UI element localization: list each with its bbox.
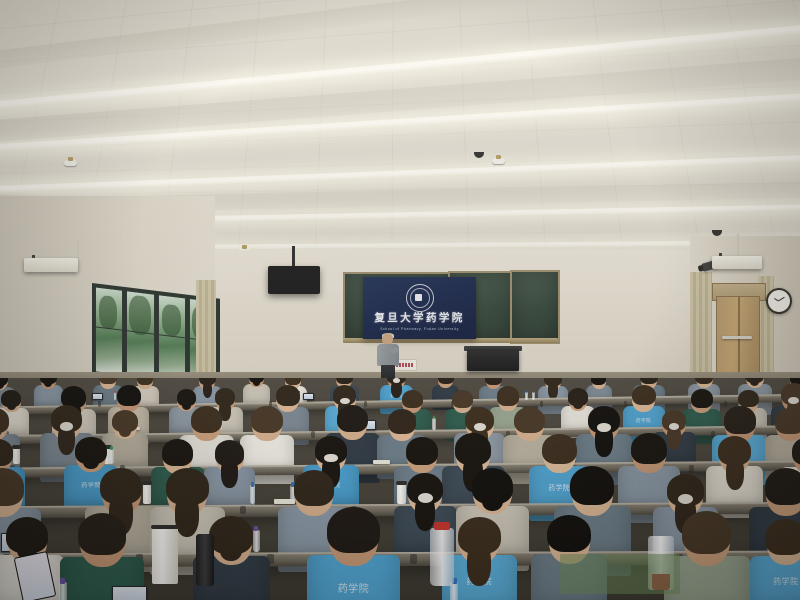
water-bottle	[109, 449, 114, 464]
audience-member-hair	[724, 406, 756, 433]
audience-member-hair	[406, 437, 438, 465]
water-bottle-foreground	[430, 528, 454, 586]
hair-tie	[60, 422, 73, 430]
audience-member-hair	[191, 406, 222, 433]
audience-member-hair	[336, 378, 353, 384]
audience-member-hair	[765, 468, 800, 505]
window-curtain-left	[196, 280, 216, 380]
audience-member-hair	[738, 390, 759, 408]
projector-pole	[737, 234, 739, 258]
bottle-cap	[251, 482, 254, 487]
audience-member-hair	[497, 386, 519, 405]
audience-member-hair	[285, 378, 301, 385]
smoke-detector-icon	[64, 160, 77, 166]
audience-member-hair	[452, 390, 473, 408]
audience-member-hair	[117, 385, 141, 406]
bottle-cap	[433, 416, 435, 419]
banner-chinese-text: 复旦大学药学院	[363, 313, 476, 324]
coffee-tumbler	[143, 484, 151, 504]
seat-divider	[364, 401, 367, 407]
coffee-tumbler	[397, 484, 405, 504]
notebook	[373, 460, 390, 464]
bottle-cap	[60, 578, 65, 584]
ceiling-projector-right	[712, 256, 762, 269]
window-pane	[95, 286, 123, 375]
polo-back-print: 药学院	[307, 580, 399, 595]
bottle-cap	[526, 391, 528, 393]
audience-member-bun	[182, 401, 192, 410]
lecture-hall-photo: 创新药研发是一场高风险、高投入、高回报的工作 数据来源：行业研究报告 · 制图说…	[0, 0, 800, 600]
laptop	[92, 393, 103, 400]
laptop	[303, 393, 314, 400]
audience-member-hair	[402, 390, 423, 408]
seat-divider	[98, 401, 101, 407]
ceiling-projector-left	[24, 258, 78, 272]
audience-member-bun	[119, 425, 132, 437]
window-pane	[158, 294, 186, 383]
audience-member-bun	[482, 492, 502, 511]
audience-member-hair	[294, 470, 335, 505]
laptop	[112, 586, 147, 600]
ceiling-mounted-display	[268, 266, 320, 294]
presenter	[377, 333, 399, 381]
audience-member-hair	[775, 408, 800, 433]
fudan-seal-icon	[406, 284, 434, 312]
seat-divider	[240, 506, 246, 515]
audience-member-ponytail	[548, 381, 558, 398]
audience-member-hair	[765, 519, 800, 555]
seat-divider	[689, 465, 694, 472]
audience-member-hair	[327, 507, 380, 553]
water-bottle	[525, 392, 528, 400]
laptop-screen	[304, 394, 313, 399]
audience-member-bun	[83, 455, 98, 470]
audience-member-hair	[542, 434, 577, 464]
polo-back-print: 药学院	[750, 576, 800, 587]
bottle-cap	[533, 391, 535, 393]
seat-divider	[540, 401, 543, 407]
audience-member-hair	[632, 385, 656, 406]
tv-mount-pole	[292, 246, 295, 268]
lectern	[467, 349, 519, 371]
smoke-detector-icon	[492, 158, 505, 164]
audience-member-hair	[570, 466, 614, 504]
polo-back-print: 药学院	[623, 418, 665, 424]
ceiling-tile-seam	[792, 0, 800, 258]
banner-english-text: School of Pharmacy, Fudan University	[363, 327, 476, 331]
bottle-cap	[110, 446, 113, 450]
audience-member-hair	[388, 409, 416, 433]
wall-clock	[766, 288, 792, 314]
seat-divider	[724, 401, 727, 407]
audience-member-ponytail	[203, 381, 213, 398]
seat-divider	[311, 431, 315, 437]
hair-tie	[324, 454, 337, 463]
water-bottle	[114, 392, 117, 400]
laptop-screen	[93, 394, 102, 399]
audience-member-ponytail	[467, 543, 491, 586]
bottle-cap	[254, 526, 258, 532]
ceiling-tile-seam	[391, 0, 393, 258]
audience-member-hair	[514, 407, 545, 434]
audience-member-ponytail	[221, 458, 238, 488]
hair-tie	[418, 493, 433, 503]
audience-member-ponytail	[175, 494, 199, 537]
audience-seating: 药学院药学院药学院药学院药学院药学院药学院药学院药学院药学院药学院	[0, 378, 800, 600]
seat-divider	[410, 554, 417, 564]
audience-member-ponytail	[726, 457, 745, 490]
audience-member-bun	[573, 400, 583, 409]
audience-member-bun	[253, 378, 261, 385]
notebook	[274, 499, 295, 504]
audience-member-hair	[547, 515, 591, 553]
bottle-cap-foreground	[434, 522, 450, 530]
water-bottle	[253, 530, 260, 552]
window-pane	[126, 290, 154, 379]
audience-member-hair	[691, 389, 713, 408]
door-push-bar[interactable]	[722, 336, 752, 339]
laptop-screen	[113, 587, 146, 600]
hair-tie	[597, 423, 610, 432]
bottle-cap	[114, 391, 116, 393]
chalkboard-panel-right	[510, 270, 560, 344]
water-bottle	[532, 392, 535, 400]
ceiling-speaker-icon	[474, 152, 484, 158]
audience-member-hair	[251, 406, 282, 433]
ceiling-tile-seam	[459, 0, 469, 258]
audience-member-hair	[631, 433, 667, 464]
water-bottle	[432, 418, 436, 430]
water-bottle	[250, 485, 256, 504]
coffee-tumbler	[13, 448, 20, 464]
audience-member-hair	[337, 405, 368, 432]
audience-member-hair	[276, 385, 300, 406]
black-bottle-foreground	[196, 534, 214, 586]
school-banner: 复旦大学药学院 School of Pharmacy, Fudan Univer…	[363, 277, 476, 339]
audience-member-hair	[162, 439, 193, 466]
hair-tie	[474, 423, 486, 431]
audience-member-hair	[682, 511, 731, 554]
audience-member-hair	[78, 513, 126, 555]
green-notebook	[560, 554, 680, 594]
hair-tie	[340, 398, 349, 404]
water-bottle	[59, 582, 67, 600]
coffee-tumbler-foreground	[152, 528, 178, 584]
